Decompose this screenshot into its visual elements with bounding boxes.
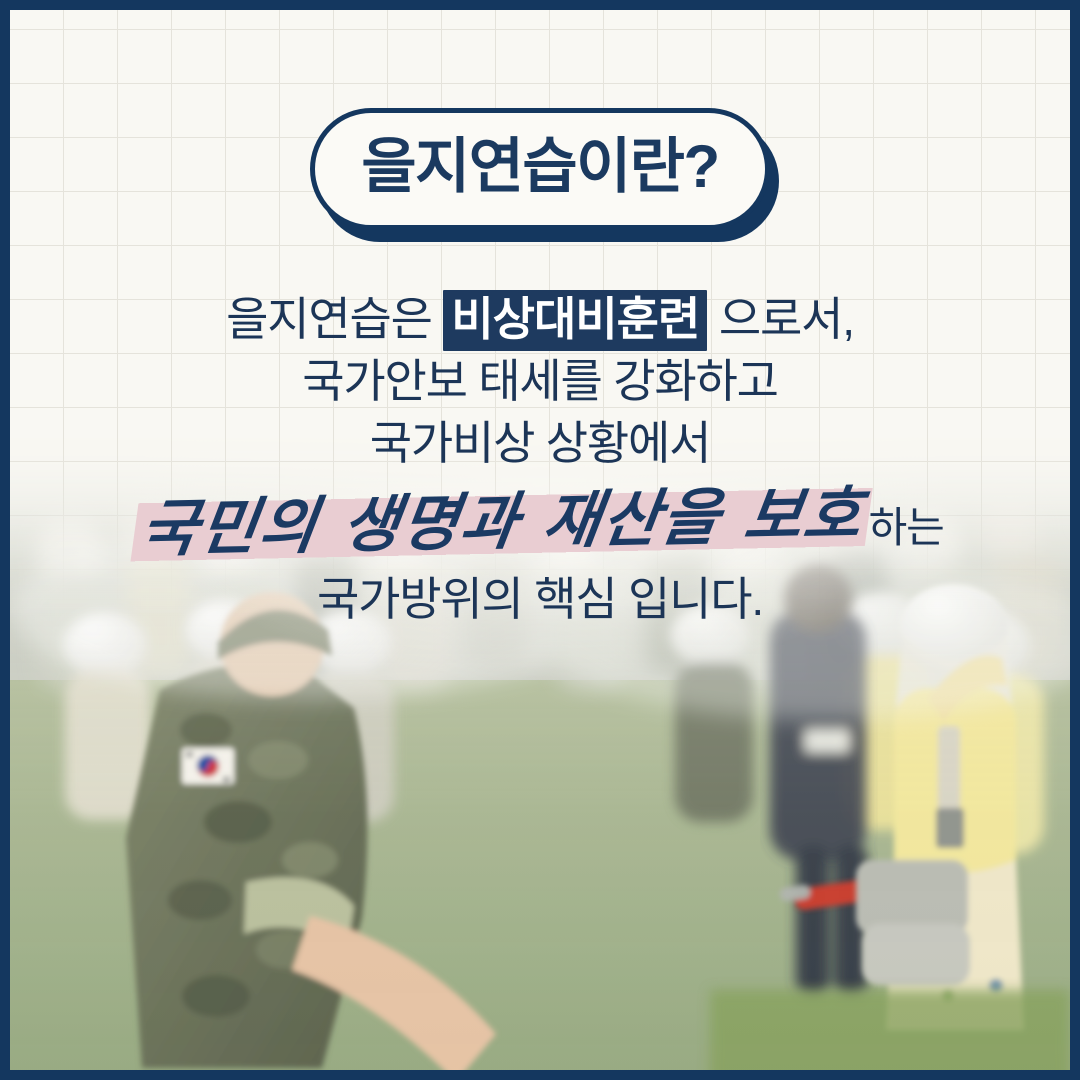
poster-card: 을지연습이란? 을지연습은 비상대비훈련 으로서, 국가안보 태세를 강화하고 … xyxy=(0,0,1080,1080)
line1-after: 으로서, xyxy=(707,293,854,345)
description-line-2: 국가안보 태세를 강화하고 xyxy=(10,350,1070,412)
handwritten-highlight-phrase: 국민의 생명과 재산을 보호 xyxy=(129,470,876,573)
title-badge: 을지연습이란? xyxy=(310,108,770,232)
description-line-5: 국가방위의 핵심 입니다. xyxy=(10,568,1070,630)
page-title: 을지연습이란? xyxy=(361,137,718,197)
poster-canvas: 을지연습이란? 을지연습은 비상대비훈련 으로서, 국가안보 태세를 강화하고 … xyxy=(10,10,1070,1070)
description-line-3: 국가비상 상황에서 xyxy=(10,412,1070,474)
title-badge-pill: 을지연습이란? xyxy=(310,108,770,230)
description-block: 을지연습은 비상대비훈련 으로서, 국가안보 태세를 강화하고 국가비상 상황에… xyxy=(10,288,1070,630)
description-line-1: 을지연습은 비상대비훈련 으로서, xyxy=(10,288,1070,350)
line4-tail: 하는 xyxy=(869,484,944,572)
emphasis-badge-emergency-drill: 비상대비훈련 xyxy=(443,290,707,351)
line1-before: 을지연습은 xyxy=(226,293,443,345)
description-line-4: 국민의 생명과 재산을 보호하는 xyxy=(10,474,1070,562)
